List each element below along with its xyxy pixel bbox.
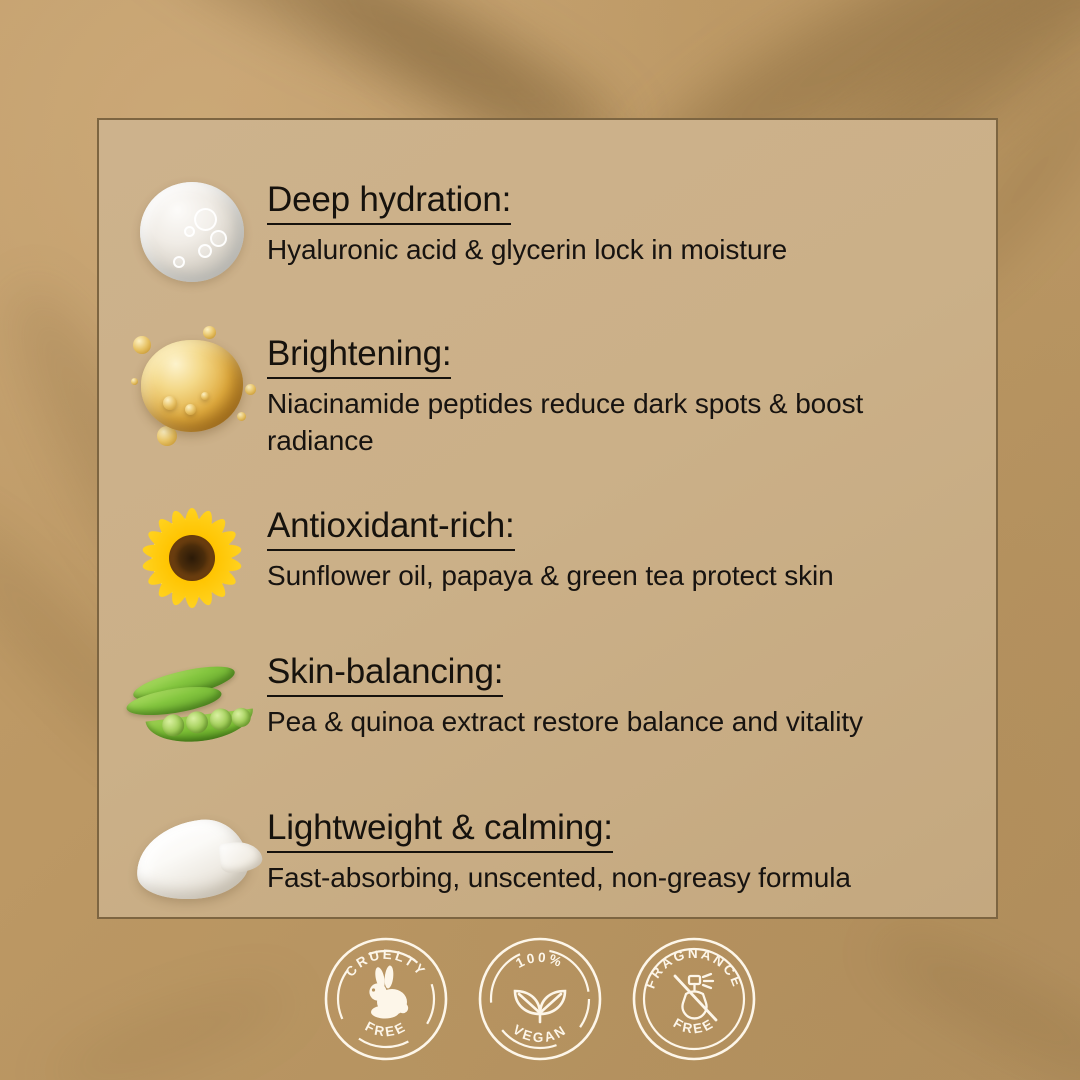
infographic-canvas: Deep hydration: Hyaluronic acid & glycer… [0,0,1080,1080]
badge-vegan: 100% VEGAN [477,936,603,1062]
pea-pods-icon [122,661,262,747]
benefits-list: Deep hydration: Hyaluronic acid & glycer… [99,120,1000,920]
benefit-description: Hyaluronic acid & glycerin lock in moist… [267,232,957,269]
benefit-icon-slot [117,644,267,764]
badge-bottom-label: FREE [363,1019,410,1040]
svg-text:FREE: FREE [363,1019,410,1040]
benefit-description: Fast-absorbing, unscented, non-greasy fo… [267,860,957,897]
benefit-text: Deep hydration: Hyaluronic acid & glycer… [267,172,974,269]
badge-bottom-label: VEGAN [510,1022,570,1045]
list-item: Deep hydration: Hyaluronic acid & glycer… [99,172,1000,292]
benefit-icon-slot [117,800,267,920]
cream-swatch-icon [136,821,248,899]
benefit-heading: Deep hydration: [267,180,511,225]
rabbit-icon [369,965,408,1018]
benefit-heading: Lightweight & calming: [267,808,613,853]
benefit-text: Brightening: Niacinamide peptides reduce… [267,326,974,460]
golden-oil-droplet-icon [141,340,243,432]
benefit-heading: Brightening: [267,334,451,379]
leaves-icon [515,991,565,1022]
benefit-text: Antioxidant-rich: Sunflower oil, papaya … [267,498,974,595]
list-item: Skin-balancing: Pea & quinoa extract res… [99,644,1000,764]
list-item: Antioxidant-rich: Sunflower oil, papaya … [99,498,1000,618]
benefit-text: Skin-balancing: Pea & quinoa extract res… [267,644,974,741]
benefit-heading: Antioxidant-rich: [267,506,515,551]
benefit-icon-slot [117,326,267,446]
gel-droplet-icon [140,182,244,282]
benefit-heading: Skin-balancing: [267,652,503,697]
certification-badges: CRUELTY FREE [0,929,1080,1069]
benefit-text: Lightweight & calming: Fast-absorbing, u… [267,800,974,897]
benefit-description: Sunflower oil, papaya & green tea protec… [267,558,957,595]
benefit-icon-slot [117,172,267,292]
sunflower-icon [137,503,247,613]
badge-fragrance-free: FRAGNANCE FREE [631,936,757,1062]
benefits-panel: Deep hydration: Hyaluronic acid & glycer… [97,118,998,919]
benefit-description: Niacinamide peptides reduce dark spots &… [267,386,957,460]
svg-text:VEGAN: VEGAN [510,1022,570,1045]
benefit-description: Pea & quinoa extract restore balance and… [267,704,957,741]
list-item: Lightweight & calming: Fast-absorbing, u… [99,800,1000,920]
no-fragrance-spray-icon [675,974,716,1020]
list-item: Brightening: Niacinamide peptides reduce… [99,326,1000,460]
badge-cruelty-free: CRUELTY FREE [323,936,449,1062]
benefit-icon-slot [117,498,267,618]
